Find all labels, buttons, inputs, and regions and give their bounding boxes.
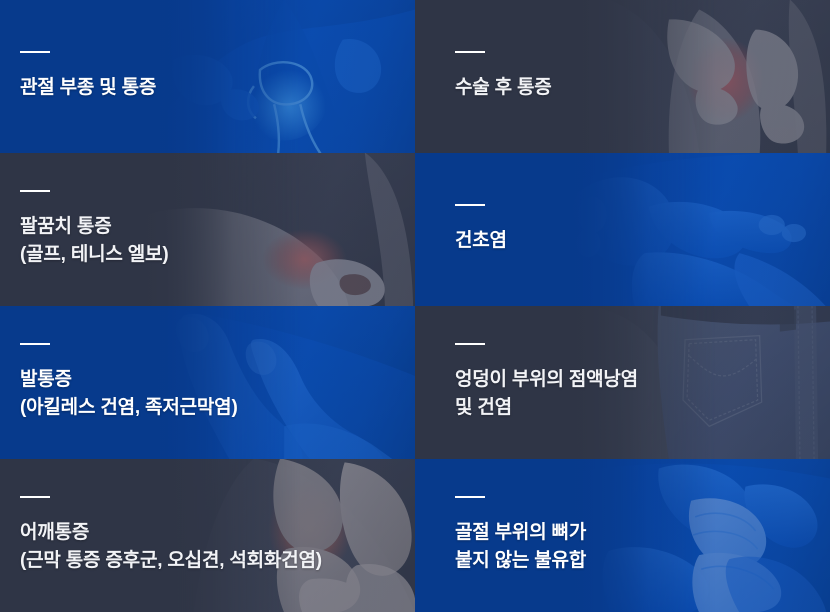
- indication-card-fracture-nonunion[interactable]: 골절 부위의 뼈가 붙지 않는 불유합: [415, 459, 830, 612]
- card-title: 어깨통증 (근막 통증 증후군, 오십견, 석회화건염): [20, 519, 350, 575]
- card-content: 엉덩이 부위의 점액낭염 및 건염: [455, 306, 785, 459]
- accent-rule: [455, 51, 485, 53]
- card-content: 관절 부종 및 통증: [20, 0, 350, 153]
- indication-card-grid: 관절 부종 및 통증 수술 후 통증: [0, 0, 830, 612]
- indication-card-tenosynovitis[interactable]: 건초염: [415, 153, 830, 306]
- indication-card-post-surgical-pain[interactable]: 수술 후 통증: [415, 0, 830, 153]
- card-content: 수술 후 통증: [455, 0, 785, 153]
- card-title: 팔꿈치 통증 (골프, 테니스 엘보): [20, 213, 350, 269]
- indication-card-shoulder-pain[interactable]: 어깨통증 (근막 통증 증후군, 오십견, 석회화건염): [0, 459, 415, 612]
- card-content: 팔꿈치 통증 (골프, 테니스 엘보): [20, 153, 350, 306]
- accent-rule: [455, 204, 485, 206]
- card-content: 골절 부위의 뼈가 붙지 않는 불유합: [455, 459, 785, 612]
- indication-card-foot-pain[interactable]: 발통증 (아킬레스 건염, 족저근막염): [0, 306, 415, 459]
- card-title: 관절 부종 및 통증: [20, 74, 350, 102]
- indication-card-elbow-pain[interactable]: 팔꿈치 통증 (골프, 테니스 엘보): [0, 153, 415, 306]
- accent-rule: [20, 343, 50, 345]
- card-title: 골절 부위의 뼈가 붙지 않는 불유합: [455, 519, 785, 575]
- card-content: 건초염: [455, 153, 785, 306]
- card-title: 엉덩이 부위의 점액낭염 및 건염: [455, 366, 785, 422]
- card-content: 발통증 (아킬레스 건염, 족저근막염): [20, 306, 350, 459]
- indication-card-joint-swelling-pain[interactable]: 관절 부종 및 통증: [0, 0, 415, 153]
- accent-rule: [20, 496, 50, 498]
- card-title: 발통증 (아킬레스 건염, 족저근막염): [20, 366, 350, 422]
- accent-rule: [455, 343, 485, 345]
- accent-rule: [20, 190, 50, 192]
- card-title: 건초염: [455, 227, 785, 255]
- card-content: 어깨통증 (근막 통증 증후군, 오십견, 석회화건염): [20, 459, 350, 612]
- card-title: 수술 후 통증: [455, 74, 785, 102]
- indication-card-hip-bursitis-tendinitis[interactable]: 엉덩이 부위의 점액낭염 및 건염: [415, 306, 830, 459]
- accent-rule: [20, 51, 50, 53]
- accent-rule: [455, 496, 485, 498]
